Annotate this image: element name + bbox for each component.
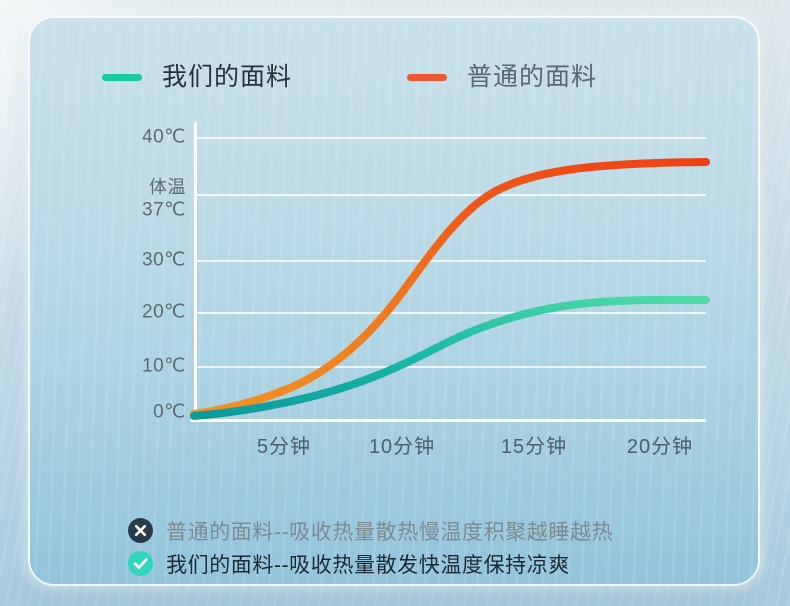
x-tick-5min: 5分钟 — [257, 430, 311, 459]
x-axis-line — [190, 419, 706, 422]
legend-line-icon — [407, 74, 447, 81]
x-axis-labels: 5分钟 10分钟 15分钟 20分钟 — [194, 430, 706, 464]
benefit-list: 普通的面料--吸收热量散热慢温度积聚越睡越热 我们的面料--吸收热量散发快温度保… — [128, 514, 728, 580]
y-tick-30: 30℃ — [142, 249, 186, 272]
x-tick-20min: 20分钟 — [627, 430, 693, 459]
screenshot-root: 我们的面料 普通的面料 40℃ 体温 37℃ 30℃ 20℃ 10℃ 0℃ — [0, 0, 790, 606]
y-tick-0: 0℃ — [153, 401, 186, 424]
legend-item-ordinary: 普通的面料 — [407, 65, 597, 90]
chart-plot-area: 40℃ 体温 37℃ 30℃ 20℃ 10℃ 0℃ — [166, 112, 718, 428]
y-tick-20: 20℃ — [142, 301, 186, 324]
chart-curves — [194, 130, 706, 418]
legend-line-icon — [102, 74, 142, 81]
legend-label-ours: 我们的面料 — [162, 65, 292, 90]
legend-item-ours: 我们的面料 — [102, 65, 292, 90]
legend-label-ordinary: 普通的面料 — [467, 65, 597, 90]
list-item: 普通的面料--吸收热量散热慢温度积聚越睡越热 — [128, 514, 728, 547]
chart-card: 我们的面料 普通的面料 40℃ 体温 37℃ 30℃ 20℃ 10℃ 0℃ — [28, 16, 760, 586]
chart-axes — [194, 130, 706, 418]
y-tick-40: 40℃ — [142, 126, 186, 149]
chart-legend: 我们的面料 普通的面料 — [102, 54, 597, 100]
curve-ordinary — [194, 162, 706, 414]
y-axis-labels: 40℃ 体温 37℃ 30℃ 20℃ 10℃ 0℃ — [126, 112, 186, 428]
list-item-label: 普通的面料--吸收热量散热慢温度积聚越睡越热 — [166, 516, 613, 546]
x-tick-10min: 10分钟 — [369, 430, 435, 459]
y-label-body-temp: 体温 — [149, 173, 186, 199]
close-circle-icon — [128, 518, 153, 543]
list-item: 我们的面料--吸收热量散发快温度保持凉爽 — [128, 547, 728, 580]
check-circle-icon — [128, 551, 153, 576]
list-item-label: 我们的面料--吸收热量散发快温度保持凉爽 — [166, 549, 570, 579]
y-tick-37: 37℃ — [142, 199, 186, 222]
x-tick-15min: 15分钟 — [501, 430, 567, 459]
y-tick-10: 10℃ — [142, 355, 186, 378]
